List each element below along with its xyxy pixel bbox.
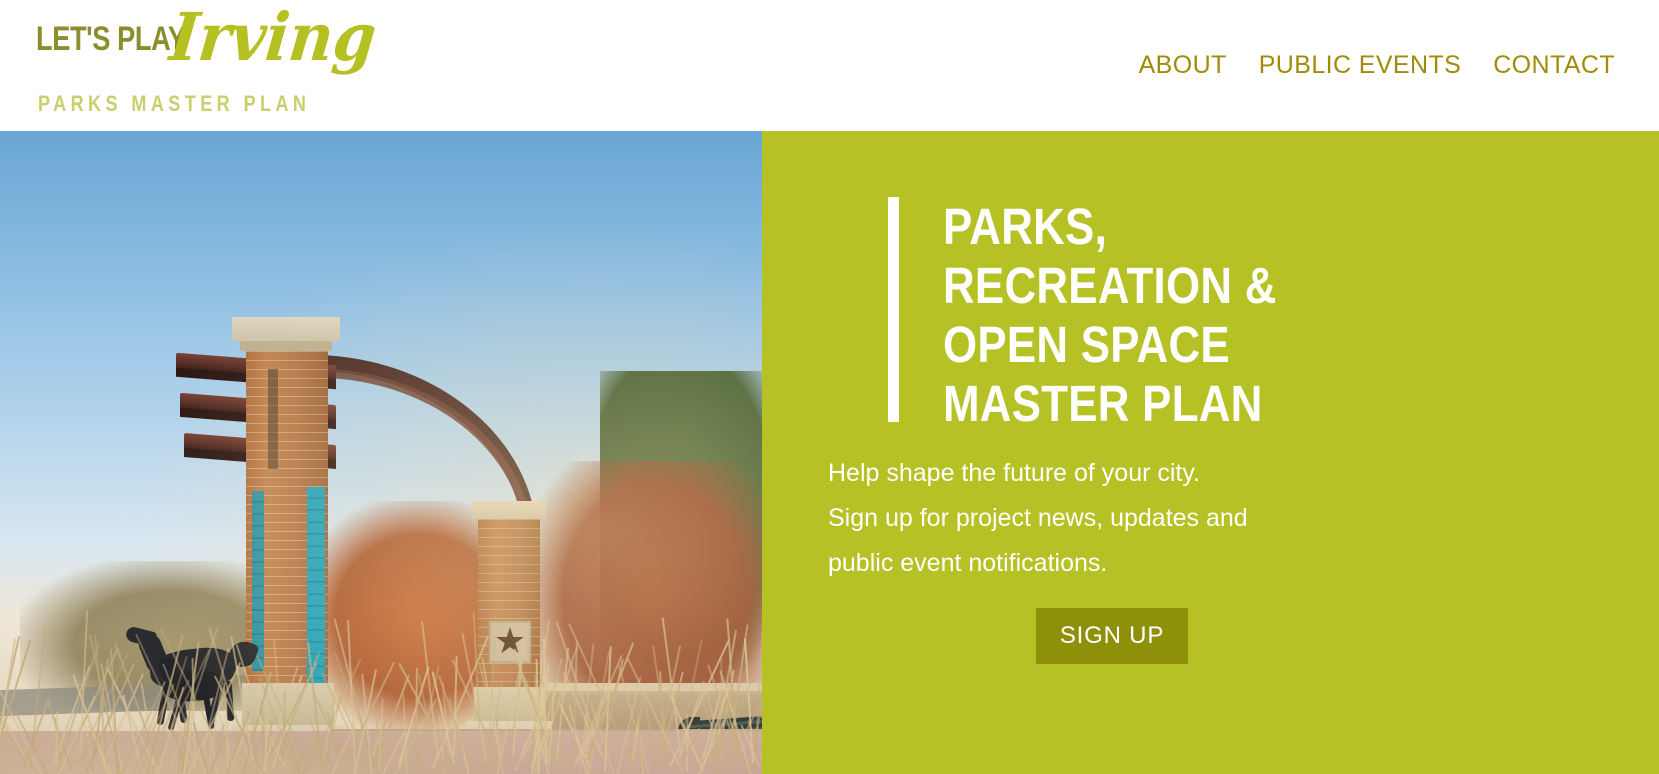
site-header: LET'S PLAY Irving PARKS MASTER PLAN ABOU… [0, 0, 1659, 131]
hero-title-line: RECREATION & [943, 256, 1277, 315]
hero-description-line: Help shape the future of your city. [828, 451, 1548, 496]
hero-photo: ★ [0, 131, 762, 774]
logo-lets-play-text: LET'S PLAY [36, 22, 186, 56]
site-logo[interactable]: LET'S PLAY Irving PARKS MASTER PLAN [36, 22, 336, 112]
hero-title-line: PARKS, [943, 197, 1277, 256]
hero-heading-block: PARKS, RECREATION & OPEN SPACE MASTER PL… [888, 197, 1331, 433]
main-navigation: ABOUT PUBLIC EVENTS CONTACT [1123, 0, 1629, 131]
hero-description-line: Sign up for project news, updates and [828, 496, 1548, 541]
left-pillar-dark-inlay [268, 369, 278, 469]
logo-subtitle-text: PARKS MASTER PLAN [38, 93, 310, 115]
hero-content-panel: PARKS, RECREATION & OPEN SPACE MASTER PL… [762, 131, 1659, 774]
page-title: PARKS, RECREATION & OPEN SPACE MASTER PL… [943, 197, 1277, 433]
hero-title-line: OPEN SPACE [943, 315, 1277, 374]
right-pillar-cap [472, 501, 546, 519]
left-pillar-cap-lower [240, 341, 332, 351]
left-pillar-cap [232, 317, 340, 341]
nav-item-about[interactable]: ABOUT [1123, 47, 1243, 84]
hero-section: ★ [0, 131, 1659, 774]
nav-item-contact[interactable]: CONTACT [1477, 47, 1629, 84]
hero-description: Help shape the future of your city. Sign… [828, 451, 1548, 586]
hero-title-line: MASTER PLAN [943, 374, 1277, 433]
heading-accent-bar [888, 197, 899, 422]
logo-irving-script-text: Irving [167, 4, 379, 70]
sign-up-button[interactable]: SIGN UP [1036, 608, 1188, 664]
hero-description-line: public event notifications. [828, 541, 1548, 586]
logo-wordmark-row: LET'S PLAY Irving [36, 22, 336, 70]
nav-item-public-events[interactable]: PUBLIC EVENTS [1243, 47, 1477, 84]
